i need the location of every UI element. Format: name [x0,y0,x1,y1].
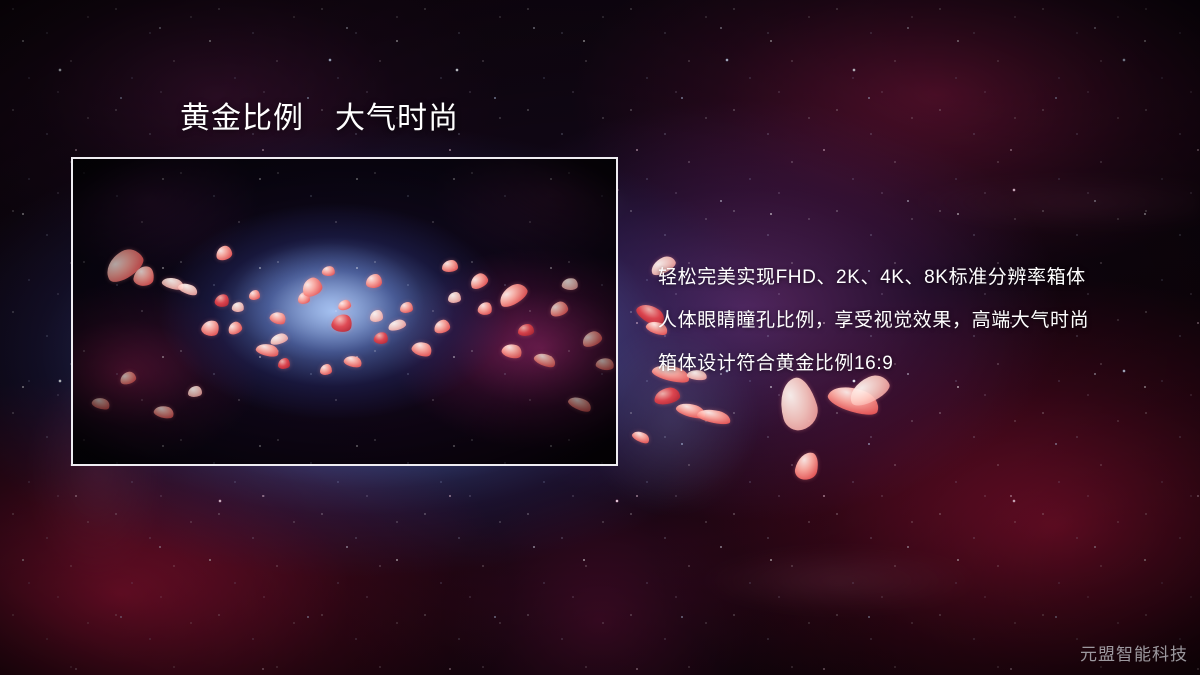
picture-content [73,159,616,464]
flower-petal [631,428,652,445]
body-line: 人体眼睛瞳孔比例，享受视觉效果，高端大气时尚 [658,299,1168,342]
framed-picture [71,157,618,466]
flower-petal [653,386,681,405]
presentation-slide: 黄金比例 大气时尚 轻松完美实现FHD、2K、4K、8K标准分辨率箱体 人体眼睛… [0,0,1200,675]
watermark: 元盟智能科技 [1080,640,1188,665]
body-text-block: 轻松完美实现FHD、2K、4K、8K标准分辨率箱体 人体眼睛瞳孔比例，享受视觉效… [658,256,1168,385]
picture-vignette [73,159,616,464]
page-title: 黄金比例 大气时尚 [180,100,459,138]
body-line: 箱体设计符合黄金比例16:9 [658,342,1168,385]
body-line: 轻松完美实现FHD、2K、4K、8K标准分辨率箱体 [658,256,1168,299]
flower-petal [793,450,820,482]
